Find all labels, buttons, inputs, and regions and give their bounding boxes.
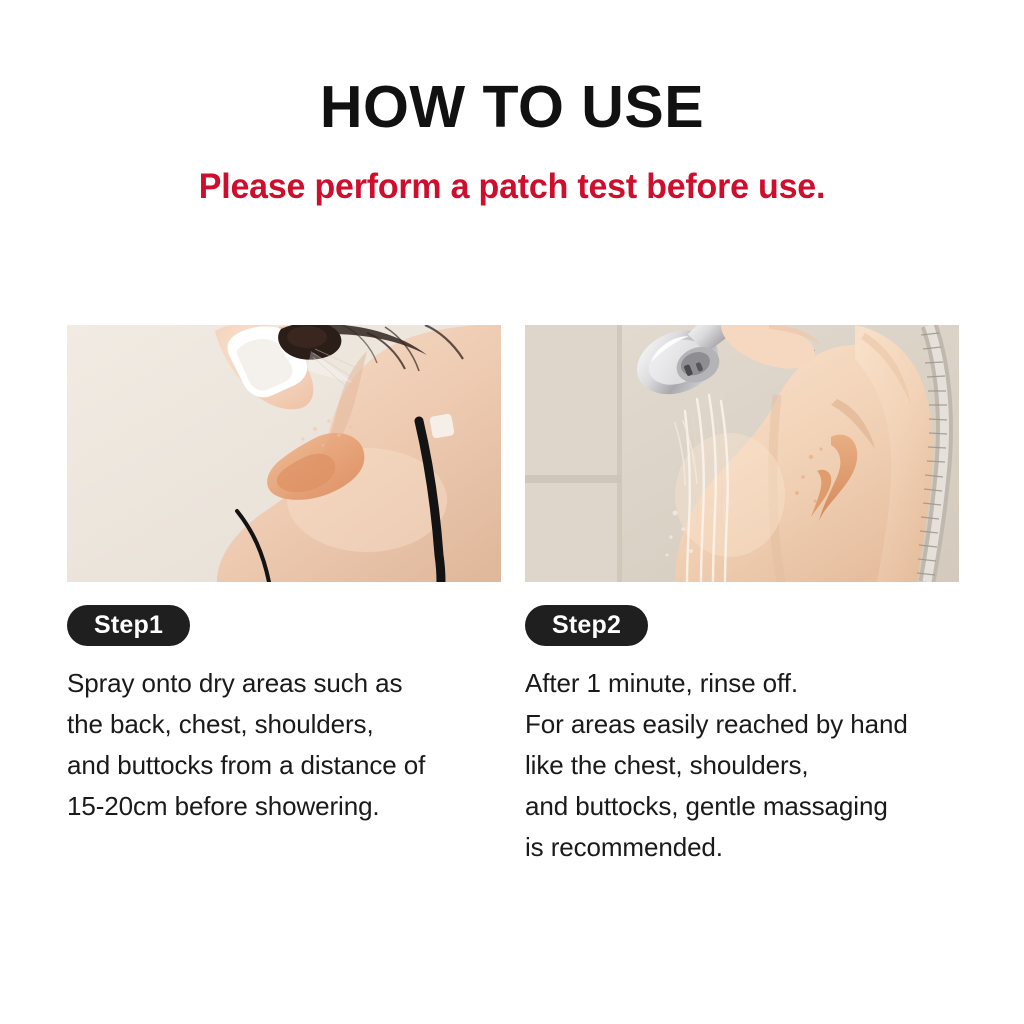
spray-application-illustration	[67, 325, 501, 582]
step2-badge: Step2	[525, 605, 648, 646]
step1-description: Spray onto dry areas such as the back, c…	[67, 663, 501, 827]
page-title: HOW TO USE	[0, 78, 1024, 137]
step1-badge-row: Step1	[67, 605, 501, 646]
step1-badge: Step1	[67, 605, 190, 646]
steps-container: Step1 Spray onto dry areas such as the b…	[67, 325, 958, 868]
step-column-1: Step1 Spray onto dry areas such as the b…	[67, 325, 501, 868]
step1-photo	[67, 325, 501, 582]
rinse-off-illustration	[525, 325, 959, 582]
how-to-use-page: HOW TO USE Please perform a patch test b…	[0, 0, 1024, 1024]
patch-test-warning: Please perform a patch test before use.	[15, 168, 1008, 207]
step2-description: After 1 minute, rinse off. For areas eas…	[525, 663, 959, 868]
step2-badge-row: Step2	[525, 605, 959, 646]
step-column-2: Step2 After 1 minute, rinse off. For are…	[525, 325, 959, 868]
step2-photo	[525, 325, 959, 582]
